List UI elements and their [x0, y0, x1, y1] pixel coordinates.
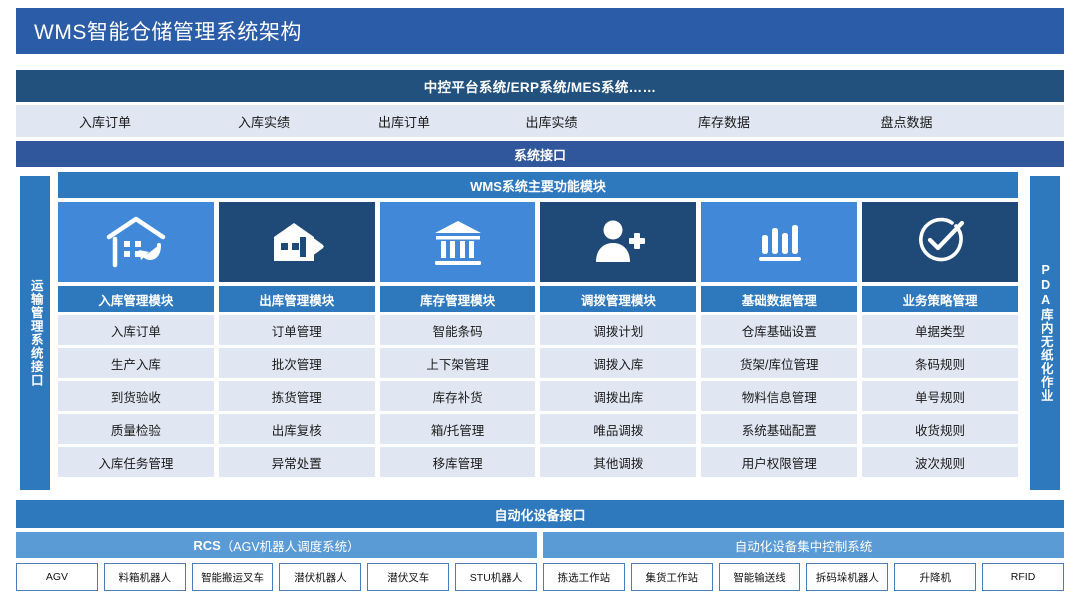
module-column-transfer: 调拨管理模块 调拨计划 调拨入库 调拨出库 唯品调拨 其他调拨	[540, 202, 696, 480]
automation-central-control-bar: 自动化设备集中控制系统	[543, 532, 1064, 558]
list-item[interactable]: 质量检验	[58, 414, 214, 444]
modules-header-bar: WMS系统主要功能模块	[58, 172, 1018, 198]
equipment-button[interactable]: 料箱机器人	[104, 563, 186, 591]
equipment-button[interactable]: 拣选工作站	[543, 563, 625, 591]
list-item[interactable]: 库存补货	[380, 381, 536, 411]
page-title-bar: WMS智能仓储管理系统架构	[16, 8, 1064, 54]
module-title-basic-data: 基础数据管理	[701, 286, 857, 312]
list-item[interactable]: 调拨入库	[540, 348, 696, 378]
wms-architecture-diagram: WMS智能仓储管理系统架构 中控平台系统/ERP系统/MES系统…… 入库订单 …	[0, 0, 1080, 599]
equipment-button[interactable]: AGV	[16, 563, 98, 591]
equipment-button[interactable]: 潜伏叉车	[367, 563, 449, 591]
list-item[interactable]: 条码规则	[862, 348, 1018, 378]
sidebar-right-label: PDA库内无纸化作业	[1035, 263, 1054, 403]
list-item[interactable]: 物料信息管理	[701, 381, 857, 411]
equipment-group-automation: 拣选工作站 集货工作站 智能输送线 拆码垛机器人 升降机 RFID	[543, 563, 1064, 591]
warehouse-inbound-icon	[58, 202, 214, 282]
data-item-stock-data: 库存数据	[629, 112, 819, 131]
modules-header-label: WMS系统主要功能模块	[470, 176, 606, 195]
equipment-button[interactable]: 集货工作站	[631, 563, 713, 591]
list-item[interactable]: 拣货管理	[219, 381, 375, 411]
rcs-label: RCS	[193, 538, 220, 553]
equipment-button[interactable]: 智能搬运叉车	[192, 563, 274, 591]
list-item[interactable]: 系统基础配置	[701, 414, 857, 444]
list-item[interactable]: 出库复核	[219, 414, 375, 444]
module-title-business-policy: 业务策略管理	[862, 286, 1018, 312]
modules-wrapper: WMS系统主要功能模块	[58, 172, 1018, 494]
bar-chart-icon	[701, 202, 857, 282]
sidebar-left-label: 运输管理系统接口	[25, 279, 44, 387]
list-item[interactable]: 其他调拨	[540, 447, 696, 477]
list-item[interactable]: 到货验收	[58, 381, 214, 411]
host-systems-label: 中控平台系统/ERP系统/MES系统……	[424, 76, 657, 96]
equipment-button[interactable]: 升降机	[894, 563, 976, 591]
list-item[interactable]: 单号规则	[862, 381, 1018, 411]
module-column-inventory: 库存管理模块 智能条码 上下架管理 库存补货 箱/托管理 移库管理	[380, 202, 536, 480]
automation-central-control-label: 自动化设备集中控制系统	[735, 536, 873, 555]
system-interface-label: 系统接口	[514, 145, 566, 164]
list-item[interactable]: 调拨出库	[540, 381, 696, 411]
equipment-button[interactable]: STU机器人	[455, 563, 537, 591]
list-item[interactable]: 唯品调拨	[540, 414, 696, 444]
rcs-sub-label: （AGV机器人调度系统）	[221, 536, 360, 555]
host-systems-band: 中控平台系统/ERP系统/MES系统……	[16, 70, 1064, 102]
data-item-inbound-order: 入库订单	[16, 112, 194, 131]
list-item[interactable]: 批次管理	[219, 348, 375, 378]
sidebar-pda-paperless: PDA库内无纸化作业	[1030, 176, 1060, 490]
list-item[interactable]: 入库任务管理	[58, 447, 214, 477]
list-item[interactable]: 单据类型	[862, 315, 1018, 345]
list-item[interactable]: 异常处置	[219, 447, 375, 477]
modules-columns: 入库管理模块 入库订单 生产入库 到货验收 质量检验 入库任务管理	[58, 202, 1018, 480]
bank-inventory-icon	[380, 202, 536, 282]
module-title-transfer: 调拨管理模块	[540, 286, 696, 312]
equipment-button[interactable]: 拆码垛机器人	[806, 563, 888, 591]
system-interface-band: 系统接口	[16, 141, 1064, 167]
data-item-outbound-result: 出库实绩	[474, 112, 629, 131]
equipment-row: AGV 料箱机器人 智能搬运叉车 潜伏机器人 潜伏叉车 STU机器人 拣选工作站…	[16, 563, 1064, 591]
automation-interface-label: 自动化设备接口	[494, 505, 585, 524]
list-item[interactable]: 仓库基础设置	[701, 315, 857, 345]
data-item-outbound-order: 出库订单	[334, 112, 474, 131]
list-item[interactable]: 波次规则	[862, 447, 1018, 477]
list-item[interactable]: 调拨计划	[540, 315, 696, 345]
warehouse-outbound-icon	[219, 202, 375, 282]
automation-interface-band: 自动化设备接口	[16, 500, 1064, 528]
page-title: WMS智能仓储管理系统架构	[16, 16, 302, 46]
module-title-outbound: 出库管理模块	[219, 286, 375, 312]
data-exchange-row: 入库订单 入库实绩 出库订单 出库实绩 库存数据 盘点数据	[16, 105, 1064, 137]
list-item[interactable]: 生产入库	[58, 348, 214, 378]
equipment-button[interactable]: RFID	[982, 563, 1064, 591]
data-item-count-data: 盘点数据	[819, 112, 994, 131]
list-item[interactable]: 智能条码	[380, 315, 536, 345]
list-item[interactable]: 货架/库位管理	[701, 348, 857, 378]
list-item[interactable]: 用户权限管理	[701, 447, 857, 477]
equipment-group-rcs: AGV 料箱机器人 智能搬运叉车 潜伏机器人 潜伏叉车 STU机器人	[16, 563, 537, 591]
list-item[interactable]: 箱/托管理	[380, 414, 536, 444]
sidebar-transport-interface: 运输管理系统接口	[20, 176, 50, 490]
list-item[interactable]: 上下架管理	[380, 348, 536, 378]
user-add-icon	[540, 202, 696, 282]
list-item[interactable]: 订单管理	[219, 315, 375, 345]
module-column-basic-data: 基础数据管理 仓库基础设置 货架/库位管理 物料信息管理 系统基础配置 用户权限…	[701, 202, 857, 480]
module-column-inbound: 入库管理模块 入库订单 生产入库 到货验收 质量检验 入库任务管理	[58, 202, 214, 480]
equipment-button[interactable]: 智能输送线	[719, 563, 801, 591]
list-item[interactable]: 入库订单	[58, 315, 214, 345]
equipment-button[interactable]: 潜伏机器人	[279, 563, 361, 591]
rcs-system-bar: RCS（AGV机器人调度系统）	[16, 532, 537, 558]
module-title-inventory: 库存管理模块	[380, 286, 536, 312]
module-title-inbound: 入库管理模块	[58, 286, 214, 312]
data-item-inbound-result: 入库实绩	[194, 112, 334, 131]
control-systems-row: RCS（AGV机器人调度系统） 自动化设备集中控制系统	[16, 532, 1064, 558]
main-modules-area: 运输管理系统接口 PDA库内无纸化作业 WMS系统主要功能模块	[16, 172, 1064, 494]
check-circle-icon	[862, 202, 1018, 282]
module-column-business-policy: 业务策略管理 单据类型 条码规则 单号规则 收货规则 波次规则	[862, 202, 1018, 480]
list-item[interactable]: 收货规则	[862, 414, 1018, 444]
list-item[interactable]: 移库管理	[380, 447, 536, 477]
module-column-outbound: 出库管理模块 订单管理 批次管理 拣货管理 出库复核 异常处置	[219, 202, 375, 480]
